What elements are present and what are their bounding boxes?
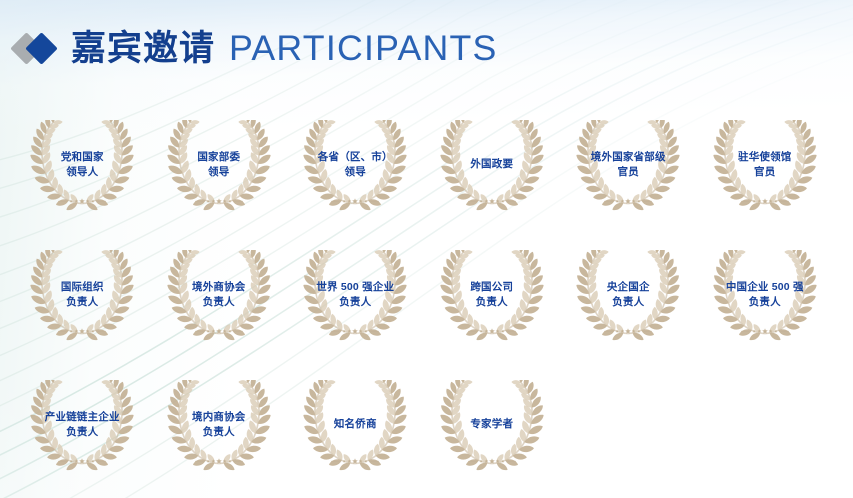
badge-row-1: 党和国家领导人国家部委领导各省（区、市）领导外国政要境外国家省部级官员驻华使领馆… [0, 118, 853, 218]
badge-label: 专家学者 [443, 417, 541, 432]
badge-label-line: 境外商协会 [170, 280, 268, 295]
badge-label: 跨国公司负责人 [443, 280, 541, 310]
participant-badge[interactable]: 世界 500 强企业负责人 [287, 248, 424, 348]
page-header: 嘉宾邀请 PARTICIPANTS [13, 22, 492, 74]
badge-label-line: 负责人 [443, 295, 541, 310]
badge-row-2: 国际组织负责人境外商协会负责人世界 500 强企业负责人跨国公司负责人央企国企负… [0, 248, 853, 348]
badge-label-line: 各省（区、市） [306, 150, 404, 165]
badge-label: 境内商协会负责人 [170, 410, 268, 440]
participant-badge[interactable]: 境内商协会负责人 [151, 378, 288, 478]
participant-badge[interactable]: 境外国家省部级官员 [560, 118, 697, 218]
badge-label-line: 负责人 [33, 425, 131, 440]
badge-label: 境外国家省部级官员 [579, 150, 677, 180]
badge-label-line: 产业链链主企业 [33, 410, 131, 425]
badge-label: 党和国家领导人 [33, 150, 131, 180]
badge-label: 央企国企负责人 [579, 280, 677, 310]
participant-badge[interactable]: 专家学者 [424, 378, 561, 478]
participant-badge[interactable]: 党和国家领导人 [14, 118, 151, 218]
participant-badge[interactable]: 产业链链主企业负责人 [14, 378, 151, 478]
badge-label-line: 负责人 [716, 295, 814, 310]
badge-label-line: 负责人 [306, 295, 404, 310]
badge-label-line: 负责人 [33, 295, 131, 310]
badge-label-line: 领导 [306, 165, 404, 180]
badge-label-line: 负责人 [579, 295, 677, 310]
page-title-cn: 嘉宾邀请 [71, 31, 215, 66]
participant-badge-grid: 党和国家领导人国家部委领导各省（区、市）领导外国政要境外国家省部级官员驻华使领馆… [0, 118, 853, 478]
badge-row-3: 产业链链主企业负责人境内商协会负责人知名侨商专家学者 [0, 378, 853, 478]
participant-badge[interactable]: 境外商协会负责人 [151, 248, 288, 348]
badge-label-line: 境内商协会 [170, 410, 268, 425]
badge-label: 驻华使领馆官员 [716, 150, 814, 180]
badge-label-line: 领导人 [33, 165, 131, 180]
badge-label-line: 跨国公司 [443, 280, 541, 295]
badge-label: 国际组织负责人 [33, 280, 131, 310]
badge-label-line: 驻华使领馆 [716, 150, 814, 165]
badge-label-line: 负责人 [170, 425, 268, 440]
badge-label-line: 负责人 [170, 295, 268, 310]
participant-badge[interactable]: 国际组织负责人 [14, 248, 151, 348]
participant-badge[interactable]: 国家部委领导 [151, 118, 288, 218]
double-diamond-icon [13, 31, 67, 65]
participant-badge[interactable]: 驻华使领馆官员 [697, 118, 834, 218]
badge-label-line: 中国企业 500 强 [716, 280, 814, 295]
participant-badge[interactable]: 各省（区、市）领导 [287, 118, 424, 218]
participant-badge[interactable]: 跨国公司负责人 [424, 248, 561, 348]
badge-label: 知名侨商 [306, 417, 404, 432]
badge-label: 世界 500 强企业负责人 [306, 280, 404, 310]
badge-label-line: 官员 [579, 165, 677, 180]
participant-badge[interactable]: 央企国企负责人 [560, 248, 697, 348]
badge-label: 境外商协会负责人 [170, 280, 268, 310]
badge-label: 产业链链主企业负责人 [33, 410, 131, 440]
participant-badge[interactable]: 外国政要 [424, 118, 561, 218]
badge-label-line: 知名侨商 [306, 417, 404, 432]
badge-label-line: 领导 [170, 165, 268, 180]
badge-label-line: 专家学者 [443, 417, 541, 432]
badge-label-line: 央企国企 [579, 280, 677, 295]
slide-canvas: 嘉宾邀请 PARTICIPANTS 党和国家领导人国家部委领导各省（区、市）领导… [0, 0, 853, 498]
badge-label-line: 党和国家 [33, 150, 131, 165]
badge-label-line: 国家部委 [170, 150, 268, 165]
badge-label-line: 世界 500 强企业 [306, 280, 404, 295]
badge-label-line: 境外国家省部级 [579, 150, 677, 165]
badge-label-line: 国际组织 [33, 280, 131, 295]
badge-label-line: 官员 [716, 165, 814, 180]
badge-label: 各省（区、市）领导 [306, 150, 404, 180]
participant-badge[interactable]: 知名侨商 [287, 378, 424, 478]
badge-label-line: 外国政要 [443, 157, 541, 172]
badge-label: 外国政要 [443, 157, 541, 172]
page-title-en: PARTICIPANTS [229, 31, 498, 66]
badge-label: 国家部委领导 [170, 150, 268, 180]
participant-badge[interactable]: 中国企业 500 强负责人 [697, 248, 834, 348]
badge-label: 中国企业 500 强负责人 [716, 280, 814, 310]
